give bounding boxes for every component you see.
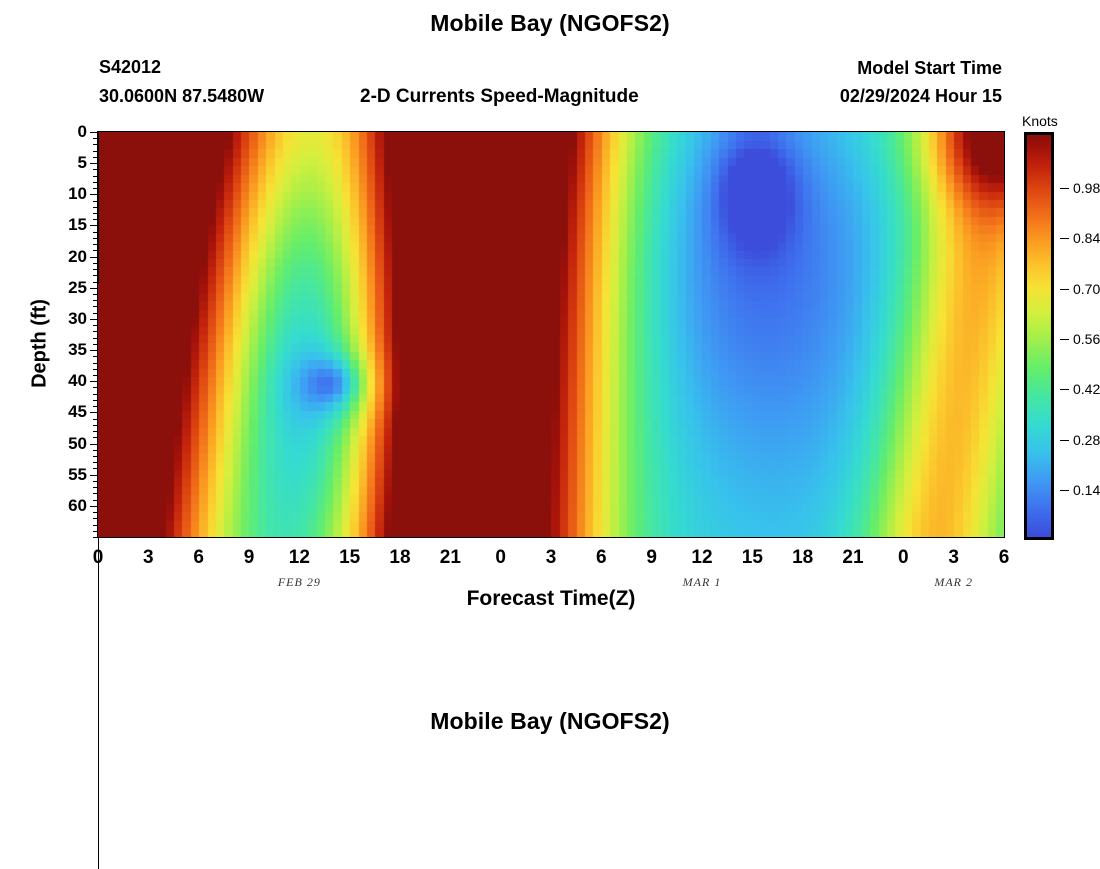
y-axis-tick	[90, 381, 98, 382]
y-axis-minor-tick	[93, 512, 98, 513]
y-axis-minor-tick	[93, 306, 98, 307]
y-axis-tick	[90, 225, 98, 226]
x-axis: 036912151821036912151821036FEB 29MAR 1MA…	[98, 537, 1004, 538]
y-axis-minor-tick	[93, 531, 98, 532]
y-axis-tick-label: 45	[68, 402, 87, 422]
y-axis-minor-tick	[93, 425, 98, 426]
x-axis-tick-top	[98, 164, 99, 172]
y-axis-tick-label: 30	[68, 309, 87, 329]
colorbar-tick-label: 0.281	[1073, 432, 1100, 448]
model-start-time-value: 02/29/2024 Hour 15	[840, 86, 1002, 107]
x-axis-tick-label: 18	[389, 547, 410, 569]
y-axis-minor-tick	[93, 437, 98, 438]
y-axis-minor-tick	[93, 525, 98, 526]
y-axis-minor-tick	[93, 338, 98, 339]
x-axis-tick-top	[98, 260, 99, 268]
x-axis-tick	[98, 673, 99, 681]
station-coordinates: 30.0600N 87.5480W	[99, 86, 264, 107]
y-axis-tick-label: 20	[68, 247, 87, 267]
y-axis-minor-tick	[93, 356, 98, 357]
y-axis-tick	[90, 163, 98, 164]
x-axis-tick-label: 15	[742, 547, 763, 569]
y-axis-tick-label: 35	[68, 340, 87, 360]
colorbar-tick-label: 0.703	[1073, 281, 1100, 297]
y-axis-tick-label: 60	[68, 496, 87, 516]
model-start-time-label: Model Start Time	[857, 58, 1002, 79]
x-axis-tick	[98, 593, 99, 601]
x-axis-tick	[98, 665, 99, 673]
colorbar-title: Knots	[1022, 113, 1058, 129]
x-axis-tick-top	[98, 268, 99, 276]
y-axis-tick	[90, 194, 98, 195]
y-axis-minor-tick	[93, 331, 98, 332]
x-axis-tick-label: 0	[898, 547, 909, 569]
y-axis-minor-tick	[93, 406, 98, 407]
y-axis-tick-label: 5	[78, 153, 87, 173]
y-axis-minor-tick	[93, 344, 98, 345]
x-axis-tick-top	[98, 220, 99, 228]
x-axis-tick-label: 9	[646, 547, 657, 569]
colorbar-canvas	[1027, 135, 1051, 537]
chart-subtitle: 2-D Currents Speed-Magnitude	[360, 86, 639, 108]
x-axis-tick	[98, 601, 99, 609]
y-axis-tick	[90, 288, 98, 289]
y-axis-minor-tick	[93, 456, 98, 457]
y-axis-minor-tick	[93, 431, 98, 432]
colorbar-tick	[1060, 490, 1069, 491]
colorbar-tick-label: 0.844	[1073, 230, 1100, 246]
y-axis-tick	[90, 475, 98, 476]
x-axis-tick-top	[98, 196, 99, 204]
x-axis-tick-top	[98, 156, 99, 164]
colorbar-gradient-box: 0.9840.8440.7030.5620.4220.2810.141	[1024, 132, 1054, 540]
footer-title: Mobile Bay (NGOFS2)	[0, 708, 1100, 735]
y-axis-tick	[90, 350, 98, 351]
y-axis-title: Depth (ft)	[29, 299, 52, 388]
x-axis-tick-top	[98, 228, 99, 236]
x-axis-tick-label: 9	[244, 547, 255, 569]
y-axis-tick-label: 0	[78, 122, 87, 142]
x-axis-tick	[98, 609, 99, 617]
x-axis-tick	[98, 617, 99, 625]
page-title: Mobile Bay (NGOFS2)	[0, 10, 1100, 37]
y-axis-minor-tick	[93, 369, 98, 370]
x-axis-tick-label: 6	[596, 547, 607, 569]
y-axis-minor-tick	[93, 394, 98, 395]
y-axis-tick	[90, 319, 98, 320]
x-axis-tick-label: 12	[289, 547, 310, 569]
colorbar: Knots 0.9840.8440.7030.5620.4220.2810.14…	[1022, 113, 1100, 553]
colorbar-tick	[1060, 339, 1069, 340]
x-axis-tick-label: 12	[691, 547, 712, 569]
x-axis-tick	[98, 641, 99, 649]
y-axis-minor-tick	[93, 387, 98, 388]
y-axis-minor-tick	[93, 481, 98, 482]
x-axis-tick-top	[98, 204, 99, 212]
x-axis-tick-top	[98, 236, 99, 244]
x-axis-tick-top	[98, 188, 99, 196]
x-axis-tick-label: 3	[143, 547, 154, 569]
x-axis-tick	[98, 577, 99, 585]
x-axis-tick-top	[98, 212, 99, 220]
x-axis-tick	[98, 657, 99, 665]
x-axis-tick-top	[98, 276, 99, 284]
y-axis-tick	[90, 257, 98, 258]
y-axis-tick-label: 55	[68, 465, 87, 485]
x-axis-tick-top	[98, 140, 99, 148]
y-axis-minor-tick	[93, 325, 98, 326]
colorbar-tick	[1060, 289, 1069, 290]
x-axis-tick	[98, 625, 99, 633]
y-axis-minor-tick	[93, 468, 98, 469]
x-axis-tick-top	[98, 172, 99, 180]
y-axis-tick	[90, 132, 98, 133]
y-axis-minor-tick	[93, 300, 98, 301]
colorbar-tick	[1060, 440, 1069, 441]
colorbar-tick	[1060, 238, 1069, 239]
x-axis-tick-top	[98, 132, 99, 140]
x-axis-tick	[98, 633, 99, 641]
x-axis-tick-top	[98, 252, 99, 260]
y-axis-tick-label: 15	[68, 215, 87, 235]
y-axis-minor-tick	[93, 419, 98, 420]
x-axis-tick-label: 15	[339, 547, 360, 569]
colorbar-tick-label: 0.422	[1073, 381, 1100, 397]
y-axis-minor-tick	[93, 313, 98, 314]
heatmap-canvas	[98, 132, 1004, 537]
x-axis-tick-label: 3	[948, 547, 959, 569]
x-axis-tick-top	[98, 244, 99, 252]
y-axis-minor-tick	[93, 294, 98, 295]
x-axis-tick-label: 0	[93, 547, 104, 569]
y-axis-tick	[90, 412, 98, 413]
y-axis-minor-tick	[93, 462, 98, 463]
station-id: S42012	[99, 57, 161, 78]
x-axis-tick-label: 6	[193, 547, 204, 569]
x-axis-tick-top	[98, 180, 99, 188]
y-axis-minor-tick	[93, 400, 98, 401]
y-axis-minor-tick	[93, 375, 98, 376]
y-axis-minor-tick	[93, 450, 98, 451]
y-axis-tick	[90, 506, 98, 507]
x-axis-tick	[98, 569, 99, 577]
x-axis-title: Forecast Time(Z)	[467, 587, 636, 611]
y-axis-tick-label: 40	[68, 371, 87, 391]
y-axis-minor-tick	[93, 487, 98, 488]
x-axis-tick-label: 6	[999, 547, 1010, 569]
x-axis-tick	[98, 649, 99, 657]
x-axis-tick-label: 21	[842, 547, 863, 569]
heatmap-plot-area: 051015202530354045505560 036912151821036…	[97, 131, 1005, 538]
y-axis-tick-label: 25	[68, 278, 87, 298]
colorbar-tick	[1060, 389, 1069, 390]
y-axis-minor-tick	[93, 493, 98, 494]
x-axis-tick-label: 0	[495, 547, 506, 569]
x-axis-top	[98, 132, 1004, 133]
x-axis-day-label: MAR 2	[934, 575, 973, 590]
y-axis-tick-label: 50	[68, 434, 87, 454]
y-axis-tick	[90, 444, 98, 445]
x-axis-minor-tick	[98, 864, 99, 869]
x-axis-tick	[98, 537, 99, 545]
x-axis-tick-top	[98, 148, 99, 156]
y-axis-tick-label: 10	[68, 184, 87, 204]
colorbar-tick-label: 0.984	[1073, 180, 1100, 196]
y-axis-minor-tick	[93, 363, 98, 364]
x-axis-tick	[98, 681, 99, 689]
y-axis-minor-tick	[93, 500, 98, 501]
x-axis-tick-label: 18	[792, 547, 813, 569]
colorbar-tick-label: 0.141	[1073, 482, 1100, 498]
x-axis-tick-label: 21	[440, 547, 461, 569]
colorbar-tick-label: 0.562	[1073, 331, 1100, 347]
colorbar-tick	[1060, 188, 1069, 189]
x-axis-day-label: MAR 1	[683, 575, 722, 590]
x-axis-tick-label: 3	[546, 547, 557, 569]
y-axis-minor-tick	[93, 518, 98, 519]
x-axis-tick	[98, 585, 99, 593]
x-axis-day-label: FEB 29	[278, 575, 321, 590]
